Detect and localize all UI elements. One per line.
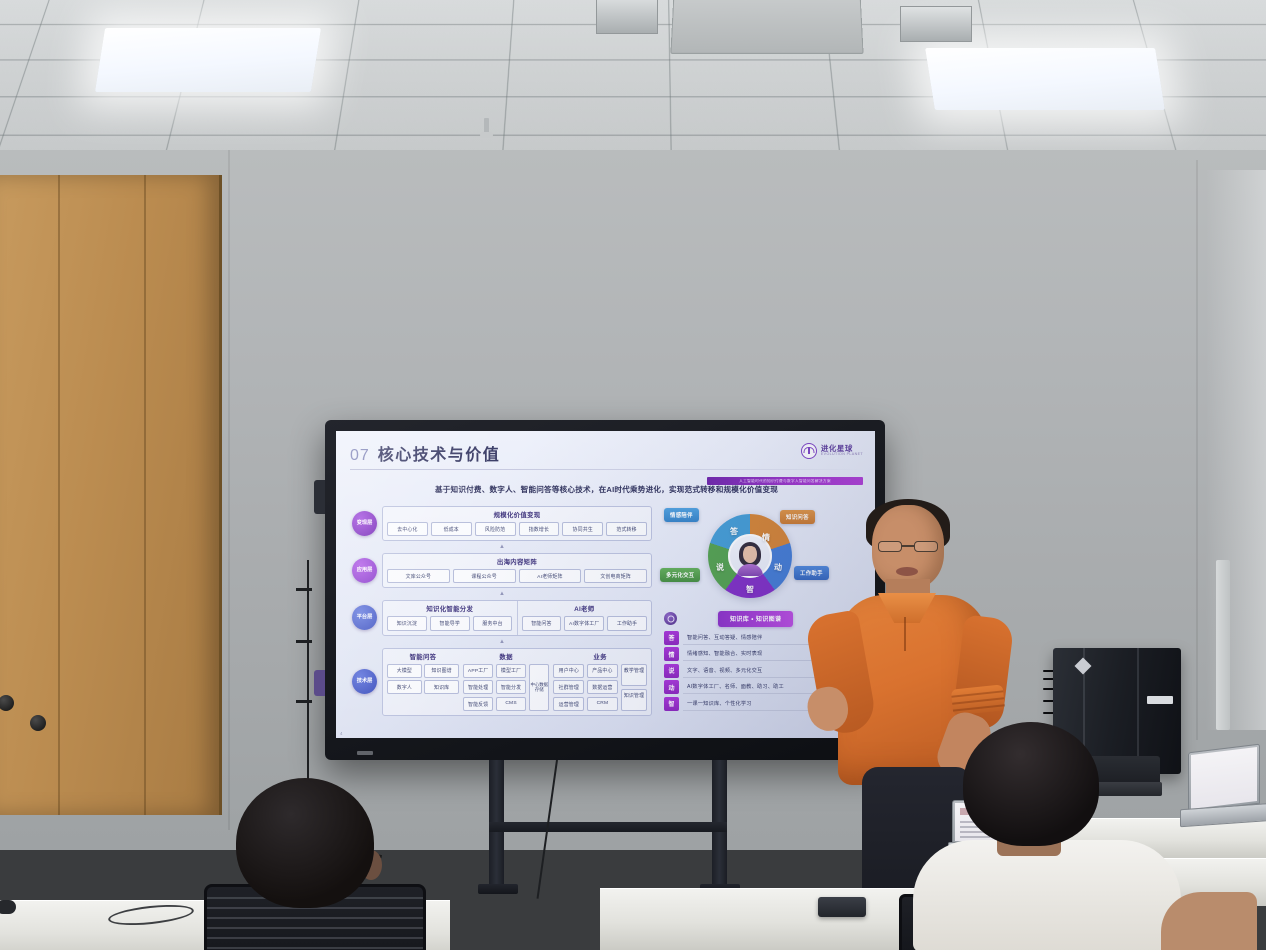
wall-hook-mid (296, 640, 312, 643)
feature-key: 动 (664, 680, 679, 694)
audience-front-head (236, 778, 374, 908)
group-value-realization: 规模化价值变现 去中心化 低成本 风险防范 指数增长 协同共生 范式转移 (382, 506, 652, 541)
wheel-segment-char: 情 (762, 532, 770, 543)
presenter-shirt-placket (904, 617, 906, 651)
layer-badge-platform: 平台层 (352, 605, 377, 630)
smartphone-on-desk[interactable] (818, 897, 866, 917)
chip[interactable]: 运营管理 (553, 697, 584, 711)
chip[interactable]: 知识管理 (621, 689, 647, 712)
layer-badge-technology: 技术层 (352, 669, 377, 694)
chip-row: 文库公众号 课程公众号 AI老师矩阵 文创电商矩阵 (387, 569, 647, 583)
chip-grid: APP工厂 模型工厂 智能处理 智能分发 智能反馈 CMS (463, 664, 526, 712)
audience-member-right (905, 722, 1235, 950)
display-stand-foot-left (478, 884, 518, 894)
ac-vent-left (596, 0, 658, 34)
subgroup-ai-teacher: AI老师 智能问答 AI数字体工厂 工作助手 (517, 601, 652, 634)
chip[interactable]: APP工厂 (463, 664, 493, 678)
presenter-mouth (896, 567, 918, 576)
chip[interactable]: 指数增长 (519, 522, 560, 536)
chip-row: 智能问答 AI数字体工厂 工作助手 (522, 616, 648, 630)
slide-page-number: 4 (340, 731, 343, 736)
chip[interactable]: 社群管理 (553, 680, 584, 694)
wall-corner-seam (1196, 160, 1198, 740)
wheel-callout-multimodal[interactable]: 多元化交互 (660, 568, 700, 582)
presenter-rolled-sleeve (951, 684, 1005, 715)
pc-power-badge-icon (1075, 658, 1092, 675)
wall-cable (307, 560, 309, 810)
logo-name-en: EVOLUTION PLANET (821, 453, 863, 457)
chip[interactable]: 智能导学 (430, 616, 470, 630)
column-business: 业务 用户中心 产品中心 社群管理 数据运营 运营管理 (553, 652, 647, 712)
stack-arrow-1: ▲ (352, 544, 652, 550)
chip[interactable]: 课程公众号 (453, 569, 516, 583)
ribbon-text: 人工智能时代的知识付费与数字人智能问答解决方案 (739, 479, 831, 484)
chip[interactable]: 文创电商矩阵 (584, 569, 647, 583)
display-brand-mark (357, 751, 373, 755)
chip[interactable]: 模型工厂 (496, 664, 526, 678)
chip[interactable]: 产品中心 (587, 664, 618, 678)
group-title: 出海内容矩阵 (387, 557, 647, 566)
group-title: 知识化智能分发 (387, 604, 513, 613)
fire-sprinkler-icon (484, 118, 489, 134)
interactive-display[interactable]: 07 核心技术与价值 进化星球 EVOLUTION PLANET 人工智能时代的… (325, 420, 885, 760)
header-divider (350, 469, 863, 470)
wheel-callout-companionship[interactable]: 情感陪伴 (664, 508, 699, 522)
layer-badge-monetization: 变现层 (352, 511, 377, 536)
group-title: 数据 (463, 652, 549, 661)
chip[interactable]: 教学管理 (621, 664, 647, 687)
chip[interactable]: 用户中心 (553, 664, 584, 678)
right-wall-lit-strip (1206, 170, 1266, 730)
layer-row-monetization: 变现层 规模化价值变现 去中心化 低成本 风险防范 指数增长 协同共生 范式转移 (352, 506, 652, 541)
ceiling-air-conditioner (670, 0, 863, 54)
chip-grid: 大模型 知识图谱 数字人 知识库 (387, 664, 459, 695)
pc-asset-label (1147, 696, 1173, 704)
chip-row: 去中心化 低成本 风险防范 指数增长 协同共生 范式转移 (387, 522, 647, 536)
chip[interactable]: CMS (496, 697, 526, 711)
chip[interactable]: 智能处理 (463, 680, 493, 694)
wall-hook-upper (296, 588, 312, 591)
presentation-slide: 07 核心技术与价值 进化星球 EVOLUTION PLANET 人工智能时代的… (336, 431, 875, 738)
display-side-tab (314, 670, 325, 696)
slide-title-group: 07 核心技术与价值 (350, 441, 500, 465)
group-overseas-content: 出海内容矩阵 文库公众号 课程公众号 AI老师矩阵 文创电商矩阵 (382, 553, 652, 588)
audience-right-arm (1161, 892, 1257, 950)
group-platform: 知识化智能分发 知识沉淀 智能导学 服务中台 AI老师 (382, 600, 652, 635)
chip-grid: 用户中心 产品中心 社群管理 数据运营 运营管理 CRM (553, 664, 618, 712)
layer-row-technology: 技术层 智能问答 大模型 知识图谱 数字人 (352, 648, 652, 717)
slide-number: 07 (350, 447, 370, 465)
logo-mark-icon (801, 443, 817, 459)
central-data-store[interactable]: 中心数据存储 (529, 664, 549, 712)
wooden-cabinet (0, 175, 222, 815)
group-technology: 智能问答 大模型 知识图谱 数字人 知识库 (382, 648, 652, 717)
chip[interactable]: 协同共生 (562, 522, 603, 536)
cabinet-knob-upper[interactable] (0, 695, 14, 711)
display-side-port (314, 480, 325, 514)
slide-body: 变现层 规模化价值变现 去中心化 低成本 风险防范 指数增长 协同共生 范式转移 (350, 506, 863, 716)
display-stand-crossbar (489, 822, 727, 832)
audience-right-head (963, 722, 1099, 846)
chip[interactable]: 数字人 (387, 680, 422, 694)
knowledge-base-pill[interactable]: 知识库 • 知识图谱 (718, 611, 793, 627)
feature-key: 说 (664, 664, 679, 678)
subgroup-knowledge-distribution: 知识化智能分发 知识沉淀 智能导学 服务中台 (383, 601, 517, 634)
knowledge-graph-icon (664, 612, 677, 625)
chip-row: 知识沉淀 智能导学 服务中台 (387, 616, 513, 630)
chip[interactable]: 智能反馈 (463, 697, 493, 711)
feature-key: 智 (664, 697, 679, 711)
wheel-segment-char: 动 (774, 562, 782, 573)
stack-arrow-3: ▲ (352, 639, 652, 645)
chip[interactable]: 数据运营 (587, 680, 618, 694)
ceiling-light-left (95, 28, 321, 92)
wheel-segment-char: 智 (746, 584, 754, 595)
layer-badge-application: 应用层 (352, 558, 377, 583)
business-tail-chips: 教学管理 知识管理 (621, 664, 647, 712)
group-title: AI老师 (522, 604, 648, 613)
mouse-on-desk[interactable] (0, 900, 16, 914)
door-frame (1216, 560, 1230, 730)
chip[interactable]: 知识图谱 (424, 664, 459, 678)
cabinet-knob-lower[interactable] (30, 715, 46, 731)
meeting-room-scene: 07 核心技术与价值 进化星球 EVOLUTION PLANET 人工智能时代的… (0, 0, 1266, 950)
chip[interactable]: 去中心化 (387, 522, 428, 536)
slide-ribbon-banner: 人工智能时代的知识付费与数字人智能问答解决方案 (707, 477, 863, 485)
feature-key: 答 (664, 631, 679, 645)
layer-row-platform: 平台层 知识化智能分发 知识沉淀 智能导学 服务中台 (352, 600, 652, 635)
chip[interactable]: 范式转移 (606, 522, 647, 536)
chip[interactable]: CRM (587, 697, 618, 711)
feature-key: 情 (664, 647, 679, 661)
chip[interactable]: 智能分发 (496, 680, 526, 694)
ceiling-light-right (925, 48, 1165, 110)
architecture-stack: 变现层 规模化价值变现 去中心化 低成本 风险防范 指数增长 协同共生 范式转移 (352, 506, 652, 716)
chip[interactable]: 低成本 (431, 522, 472, 536)
chip[interactable]: AI老师矩阵 (519, 569, 582, 583)
wall-hook-lower (296, 700, 312, 703)
presenter-glasses-icon (878, 541, 938, 552)
chip[interactable]: 智能问答 (522, 616, 562, 630)
audience-right-shirt (913, 840, 1181, 950)
wall-seam (228, 150, 230, 830)
layer-row-application: 应用层 出海内容矩阵 文库公众号 课程公众号 AI老师矩阵 文创电商矩阵 (352, 553, 652, 588)
wheel-callout-knowledge-qa[interactable]: 知识问答 (780, 510, 815, 524)
wheel-segment-char: 说 (716, 562, 724, 573)
chip[interactable]: AI数字体工厂 (564, 616, 604, 630)
chip[interactable]: 知识沉淀 (387, 616, 427, 630)
wheel-segment-char: 答 (730, 526, 738, 537)
column-data: 数据 APP工厂 模型工厂 智能处理 智能分发 智能反馈 (463, 652, 549, 712)
chip[interactable]: 知识库 (424, 680, 459, 694)
slide-lead-statement: 基于知识付费、数字人、智能问答等核心技术，在AI时代乘势进化，实现范式转移和规模… (350, 484, 863, 495)
company-logo: 进化星球 EVOLUTION PLANET (801, 443, 863, 459)
chip[interactable]: 文库公众号 (387, 569, 450, 583)
group-title: 智能问答 (387, 652, 459, 661)
chip[interactable]: 大模型 (387, 664, 422, 678)
slide-title: 核心技术与价值 (378, 441, 501, 465)
chip[interactable]: 工作助手 (607, 616, 647, 630)
chip[interactable]: 服务中台 (473, 616, 513, 630)
slide-header: 07 核心技术与价值 进化星球 EVOLUTION PLANET (350, 441, 863, 465)
column-qa: 智能问答 大模型 知识图谱 数字人 知识库 (387, 652, 459, 712)
group-title: 规模化价值变现 (387, 510, 647, 519)
display-screen[interactable]: 07 核心技术与价值 进化星球 EVOLUTION PLANET 人工智能时代的… (336, 431, 875, 738)
digital-human-avatar (732, 540, 768, 576)
group-title: 业务 (553, 652, 647, 661)
stack-arrow-2: ▲ (352, 591, 652, 597)
technology-columns: 智能问答 大模型 知识图谱 数字人 知识库 (387, 652, 647, 712)
chip[interactable]: 风险防范 (475, 522, 516, 536)
ac-vent-right (900, 6, 972, 42)
audience-member-foreground (196, 778, 436, 950)
